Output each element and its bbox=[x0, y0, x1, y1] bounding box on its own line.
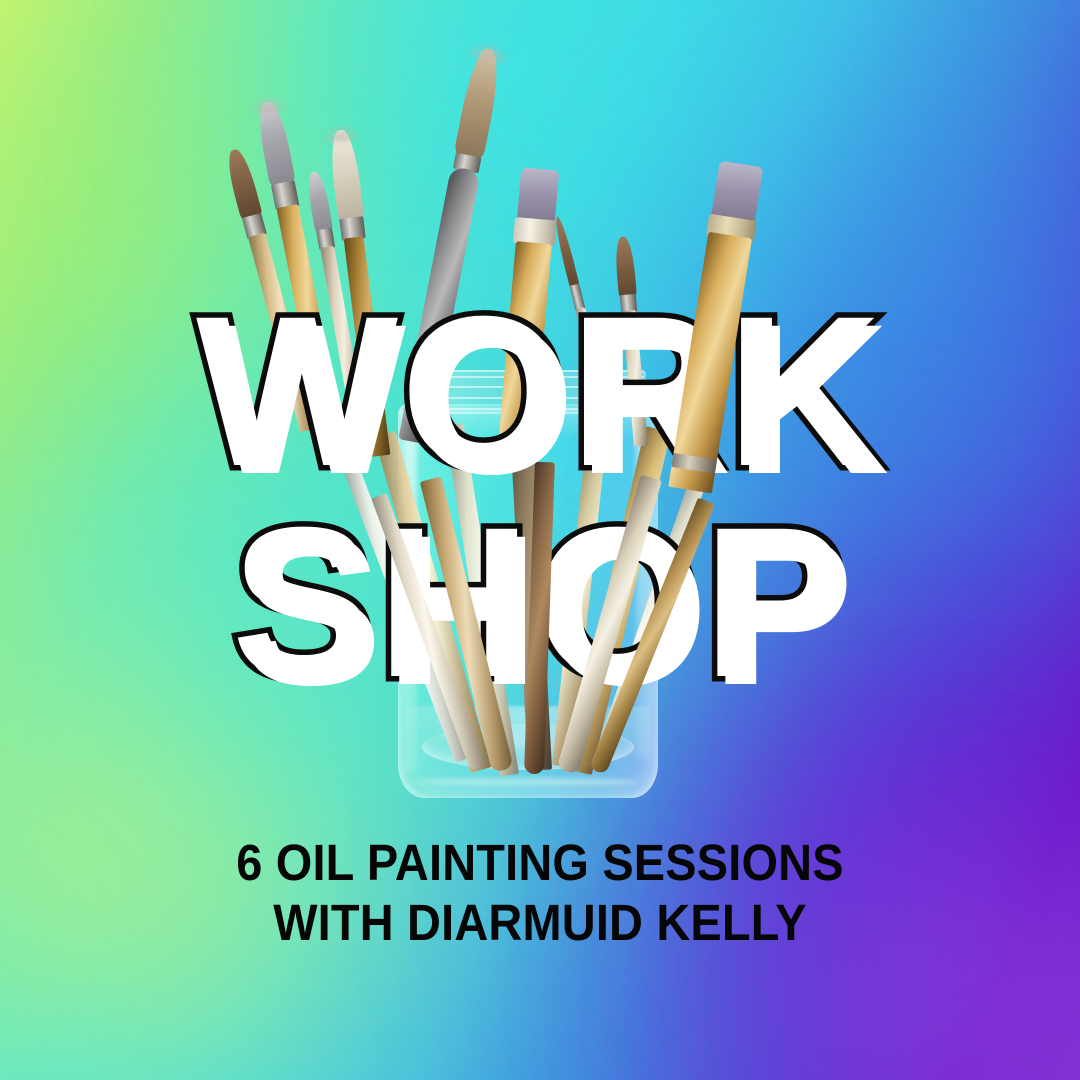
paint-brush-9 bbox=[660, 159, 771, 494]
subtitle-line-1: 6 OIL PAINTING SESSIONS bbox=[43, 833, 1037, 893]
paint-brush-12 bbox=[524, 462, 557, 775]
subtitle: 6 OIL PAINTING SESSIONS WITH DIARMUID KE… bbox=[43, 833, 1037, 953]
subtitle-line-2: WITH DIARMUID KELLY bbox=[43, 893, 1037, 953]
workshop-poster: WORK SHOP 6 OIL PAINTING SESSIO bbox=[0, 0, 1080, 1080]
